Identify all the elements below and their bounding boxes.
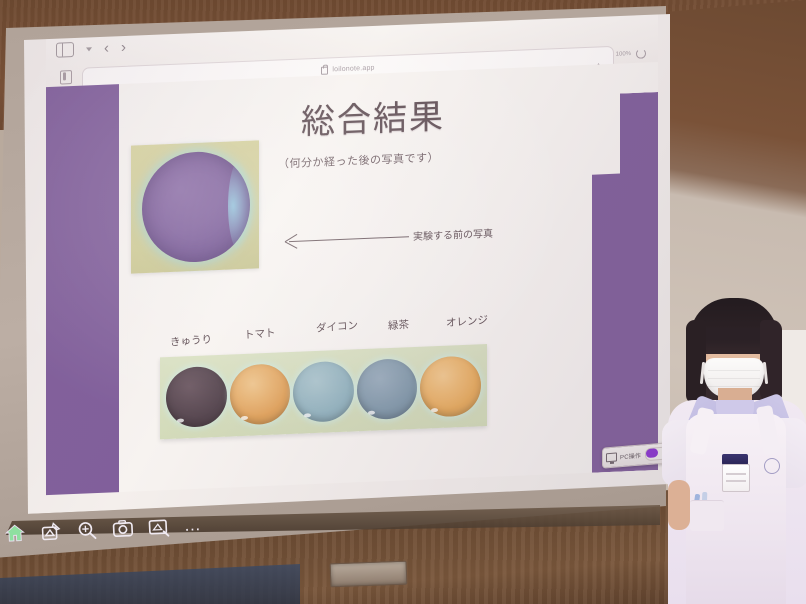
forward-button[interactable]: ›	[121, 40, 126, 55]
before-experiment-photo	[131, 140, 259, 273]
slide-accent-panel-right	[592, 92, 658, 473]
badge-line-2	[726, 480, 746, 482]
chevron-down-icon[interactable]	[86, 47, 92, 51]
student-presenter	[660, 296, 806, 604]
more-icon[interactable]: …	[183, 514, 206, 537]
petri-dish-before	[142, 150, 250, 264]
badge-line-1	[726, 473, 746, 475]
slide-title: 総合結果	[301, 89, 445, 144]
sample-tray	[160, 344, 487, 439]
mask-fold-2	[708, 378, 760, 379]
address-bar-right-controls[interactable]: 100%	[616, 48, 646, 59]
sample-label: 緑茶	[388, 317, 410, 334]
annotation-label: 実験する前の写真	[413, 225, 493, 243]
sample-well	[357, 358, 418, 420]
back-button[interactable]: ‹	[104, 41, 109, 56]
mask-fold-3	[708, 386, 760, 387]
page-zoom-label: 100%	[616, 51, 631, 58]
sample-well	[420, 355, 481, 417]
reload-icon[interactable]	[636, 48, 646, 58]
reader-mode-icon[interactable]	[60, 70, 72, 84]
sidebar-icon[interactable]	[56, 42, 74, 58]
monitor-icon	[606, 452, 617, 462]
annotate-icon[interactable]	[39, 520, 62, 543]
slide-canvas: 総合結果 （何分か経った後の写真です） 実験する前の写真 きゅうりトマトダイコン…	[46, 62, 658, 495]
wall-vent	[330, 561, 408, 588]
annotation-arrow-group: 実験する前の写真	[261, 222, 451, 256]
apron-pocket	[690, 500, 724, 531]
uniform-emblem	[764, 458, 780, 474]
sample-label: ダイコン	[316, 318, 358, 336]
browser-nav-row: ‹ ›	[56, 40, 126, 58]
name-badge	[722, 464, 750, 492]
zoom-icon[interactable]	[75, 519, 98, 542]
sample-well	[166, 366, 227, 428]
classroom-scene: ‹ › loilonote.app 100% +	[0, 0, 806, 604]
sample-label: トマト	[244, 325, 276, 342]
screen-record-icon[interactable]	[147, 515, 170, 538]
camera-icon[interactable]	[111, 517, 134, 540]
arm-left	[668, 480, 690, 530]
address-bar-url: loilonote.app	[332, 65, 374, 74]
slide-accent-panel-left	[46, 84, 119, 495]
lock-icon	[321, 66, 328, 74]
projected-screen: ‹ › loilonote.app 100% +	[24, 14, 674, 514]
sample-well	[230, 363, 291, 425]
screen-surface: ‹ › loilonote.app 100% +	[24, 14, 674, 514]
home-icon[interactable]	[4, 522, 27, 545]
slide-subtitle: （何分か経った後の写真です）	[278, 149, 439, 172]
sample-label: きゅうり	[170, 332, 212, 350]
sample-label: オレンジ	[446, 312, 488, 330]
sample-well	[293, 360, 354, 422]
arrow-head-icon	[285, 234, 298, 249]
mask-fold-1	[708, 370, 760, 371]
arrow-line	[289, 236, 409, 242]
pc-control-label: PC操作	[620, 451, 641, 462]
sample-label-row: きゅうりトマトダイコン緑茶オレンジ	[170, 313, 490, 348]
